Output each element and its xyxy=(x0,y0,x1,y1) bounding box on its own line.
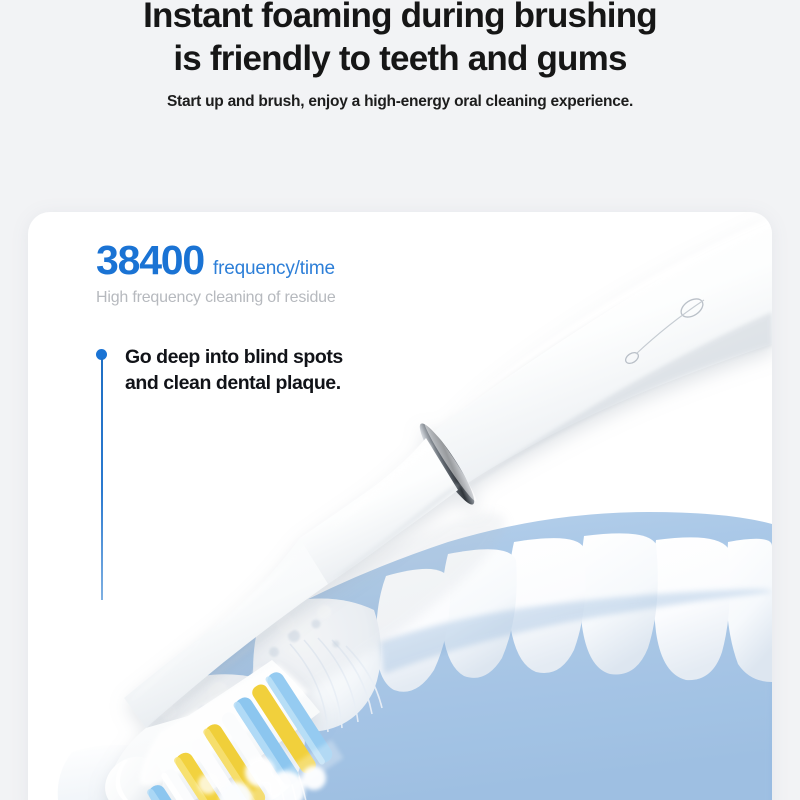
blind-spots-callout: Go deep into blind spots and clean denta… xyxy=(96,344,343,396)
product-feature-page: Instant foaming during brushing is frien… xyxy=(0,0,800,800)
headline-line-2: is friendly to teeth and gums xyxy=(0,37,800,80)
feature-card: 38400 frequency/time High frequency clea… xyxy=(28,212,772,800)
page-title: Instant foaming during brushing is frien… xyxy=(0,0,800,80)
callout-line-1: Go deep into blind spots xyxy=(125,346,343,368)
callout-leader-line xyxy=(101,358,103,600)
frequency-caption: High frequency cleaning of residue xyxy=(96,289,336,307)
frequency-stat-row: 38400 frequency/time xyxy=(96,240,336,281)
frequency-value: 38400 xyxy=(96,240,204,281)
frequency-stat: 38400 frequency/time High frequency clea… xyxy=(96,240,336,307)
header: Instant foaming during brushing is frien… xyxy=(0,0,800,111)
headline-line-1: Instant foaming during brushing xyxy=(0,0,800,37)
frequency-unit: frequency/time xyxy=(213,258,335,280)
page-subtitle: Start up and brush, enjoy a high-energy … xyxy=(0,93,800,111)
callout-line-2: and clean dental plaque. xyxy=(125,372,341,394)
callout-text: Go deep into blind spots and clean denta… xyxy=(125,344,343,396)
